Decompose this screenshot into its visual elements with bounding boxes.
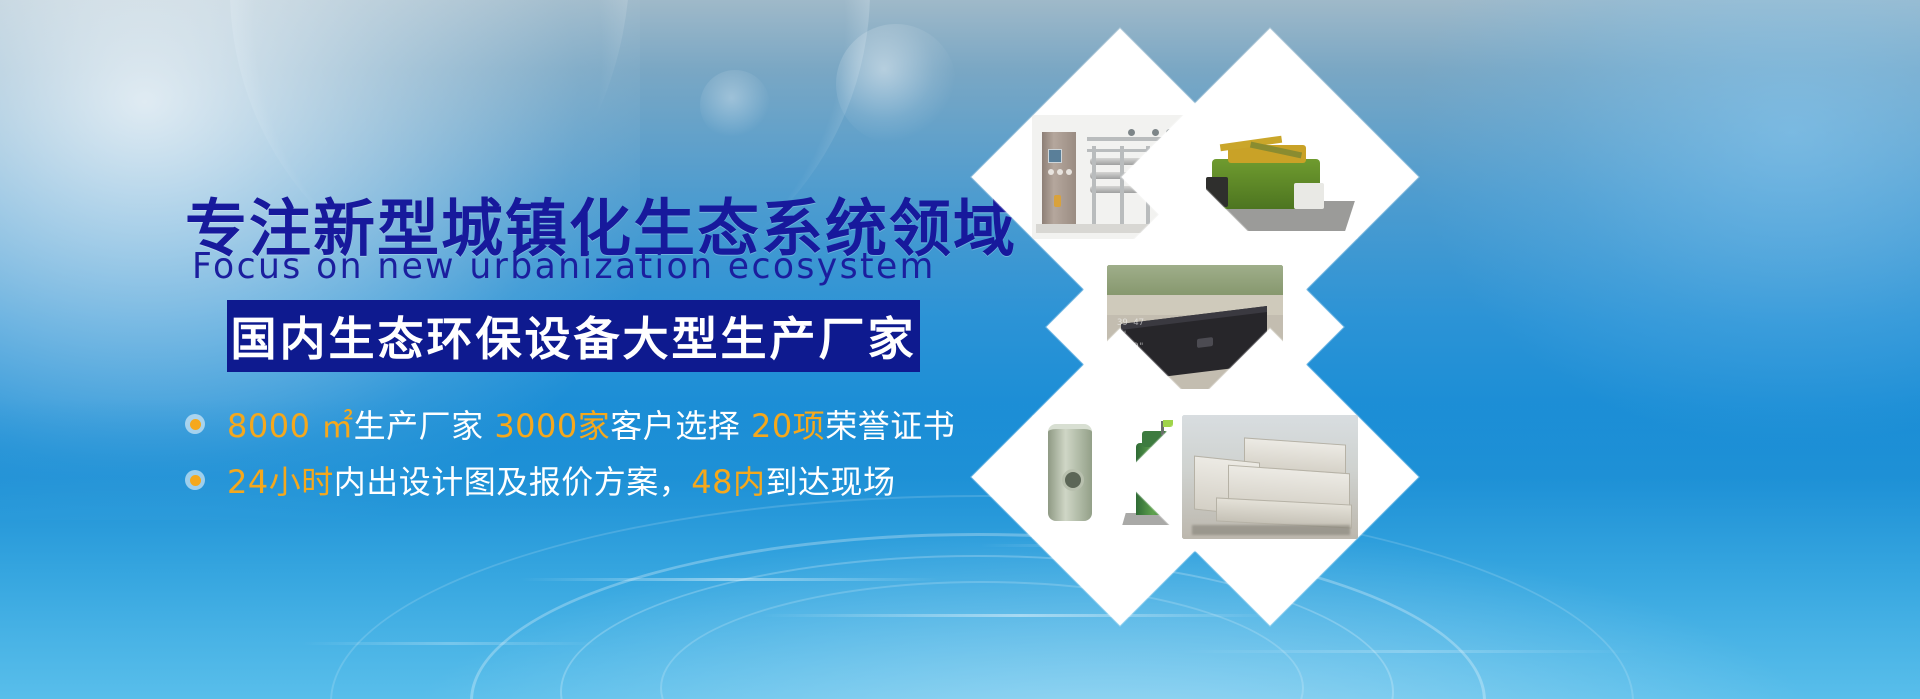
banner-subheadline: Focus on new urbanization ecosystem bbox=[192, 246, 936, 287]
feature-2-seg-4: 到达现场 bbox=[765, 463, 895, 501]
banner-highlight-bar: 国内生态环保设备大型生产厂家 bbox=[227, 300, 920, 372]
feature-2-seg-3: 48内 bbox=[691, 463, 765, 501]
hero-banner: 专注新型城镇化生态系统领域 Focus on new urbanization … bbox=[0, 0, 1920, 699]
precast-panels-photo bbox=[1182, 415, 1358, 539]
dot-bullet-icon bbox=[185, 470, 205, 490]
feature-1-seg-3: 3000家 bbox=[494, 407, 610, 445]
feature-1-seg-4: 客户选择 bbox=[610, 407, 751, 445]
feature-1-seg-1: 8000 ㎡ bbox=[227, 407, 354, 445]
banner-feature-list: 8000 ㎡生产厂家 3000家客户选择 20项荣誉证书 24小时内出设计图及报… bbox=[185, 400, 945, 512]
banner-highlight-bar-text: 国内生态环保设备大型生产厂家 bbox=[231, 303, 917, 369]
feature-1-seg-5: 20项 bbox=[751, 407, 825, 445]
product-diamond-mosaic: 39 478'16'9" bbox=[900, 0, 1920, 699]
feature-1-seg-2: 生产厂家 bbox=[354, 407, 495, 445]
dot-bullet-icon bbox=[185, 414, 205, 434]
list-item: 8000 ㎡生产厂家 3000家客户选择 20项荣誉证书 bbox=[185, 400, 945, 448]
feature-line-1: 8000 ㎡生产厂家 3000家客户选择 20项荣誉证书 bbox=[227, 401, 955, 447]
banner-text-column: 专注新型城镇化生态系统领域 Focus on new urbanization … bbox=[0, 0, 960, 699]
feature-2-seg-2: 内出设计图及报价方案， bbox=[334, 463, 692, 501]
list-item: 24小时内出设计图及报价方案，48内到达现场 bbox=[185, 456, 945, 504]
feature-2-seg-1: 24小时 bbox=[227, 463, 334, 501]
feature-line-2: 24小时内出设计图及报价方案，48内到达现场 bbox=[227, 457, 896, 503]
